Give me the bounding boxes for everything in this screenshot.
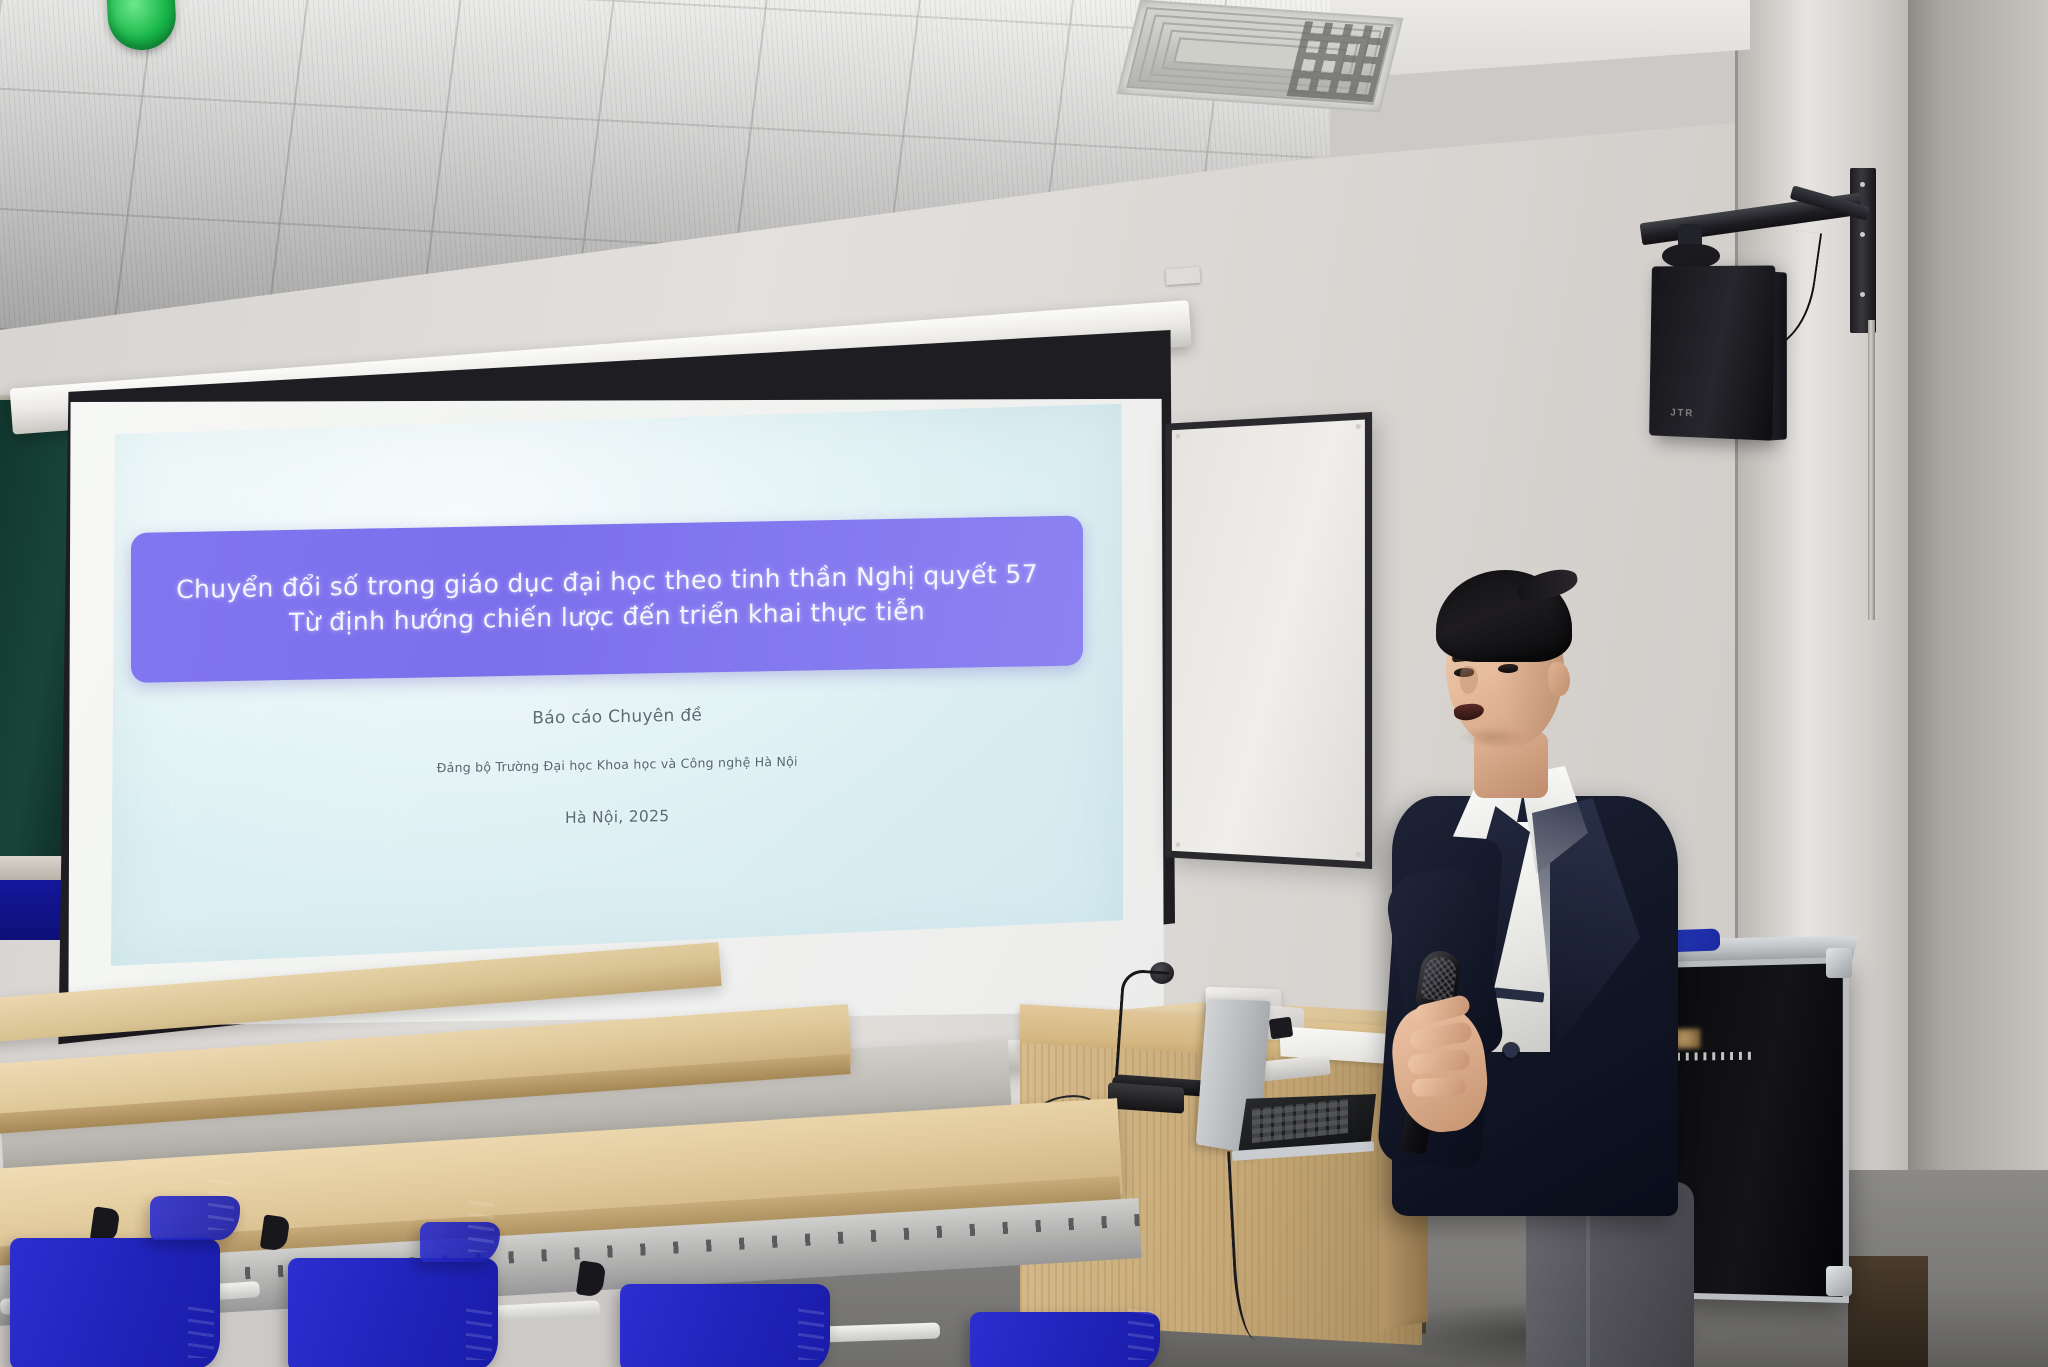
lecture-hall-scene: Chuyển đổi số trong giáo dục đại học the… [0,0,2048,1367]
whiteboard-screw [1176,842,1181,847]
slide-title-band: Chuyển đổi số trong giáo dục đại học the… [131,516,1083,683]
slide-report-label: Báo cáo Chuyên đề [532,705,702,728]
floor-dark-gap [1848,1256,1928,1367]
whiteboard-screw [1356,424,1361,429]
presenter [1398,570,1698,1367]
lecture-chair[interactable] [10,1238,220,1367]
presenter-ear [1548,662,1570,696]
lecture-chair[interactable] [150,1196,240,1240]
chin-shading [1458,726,1528,748]
wall-speaker-icon: JTR [1649,265,1775,440]
slide-place-date-label: Hà Nội, 2025 [565,806,669,826]
lecture-chair[interactable] [620,1284,830,1367]
projector-glow [111,404,1123,966]
laptop-keys [1252,1099,1348,1143]
screen-bracket [1165,267,1200,285]
whiteboard-screw [1176,434,1181,439]
ceiling-air-vent-icon [1117,0,1404,113]
whiteboard-screw [1356,852,1361,857]
whiteboard[interactable] [1165,412,1372,869]
presentation-slide[interactable]: Chuyển đổi số trong giáo dục đại học the… [111,404,1123,966]
cable-clip [1269,1017,1294,1040]
slide-organization-label: Đảng bộ Trường Đại học Khoa học và Công … [437,753,798,775]
bag-hook [576,1260,606,1297]
finger [1412,1077,1467,1097]
speaker-brand-label: JTR [1670,408,1694,420]
lecture-chair[interactable] [970,1312,1160,1367]
case-corner-bracket [1826,948,1852,978]
speaker-pivot-mount [1662,244,1720,268]
case-corner-bracket [1826,1266,1852,1296]
lecture-chair[interactable] [420,1222,500,1262]
jacket-button [1504,1044,1518,1058]
slide-subtitle-group: Báo cáo Chuyên đề Đảng bộ Trường Đại học… [111,697,1123,835]
wall-conduit [1868,320,1875,620]
gooseneck-mic-base [1108,1082,1184,1113]
right-wall-edge [1908,0,2048,1367]
eye-right [1498,664,1518,673]
lecture-chair[interactable] [288,1258,498,1367]
vent-slots [1287,21,1391,102]
projection-screen[interactable]: Chuyển đổi số trong giáo dục đại học the… [55,330,1175,1050]
